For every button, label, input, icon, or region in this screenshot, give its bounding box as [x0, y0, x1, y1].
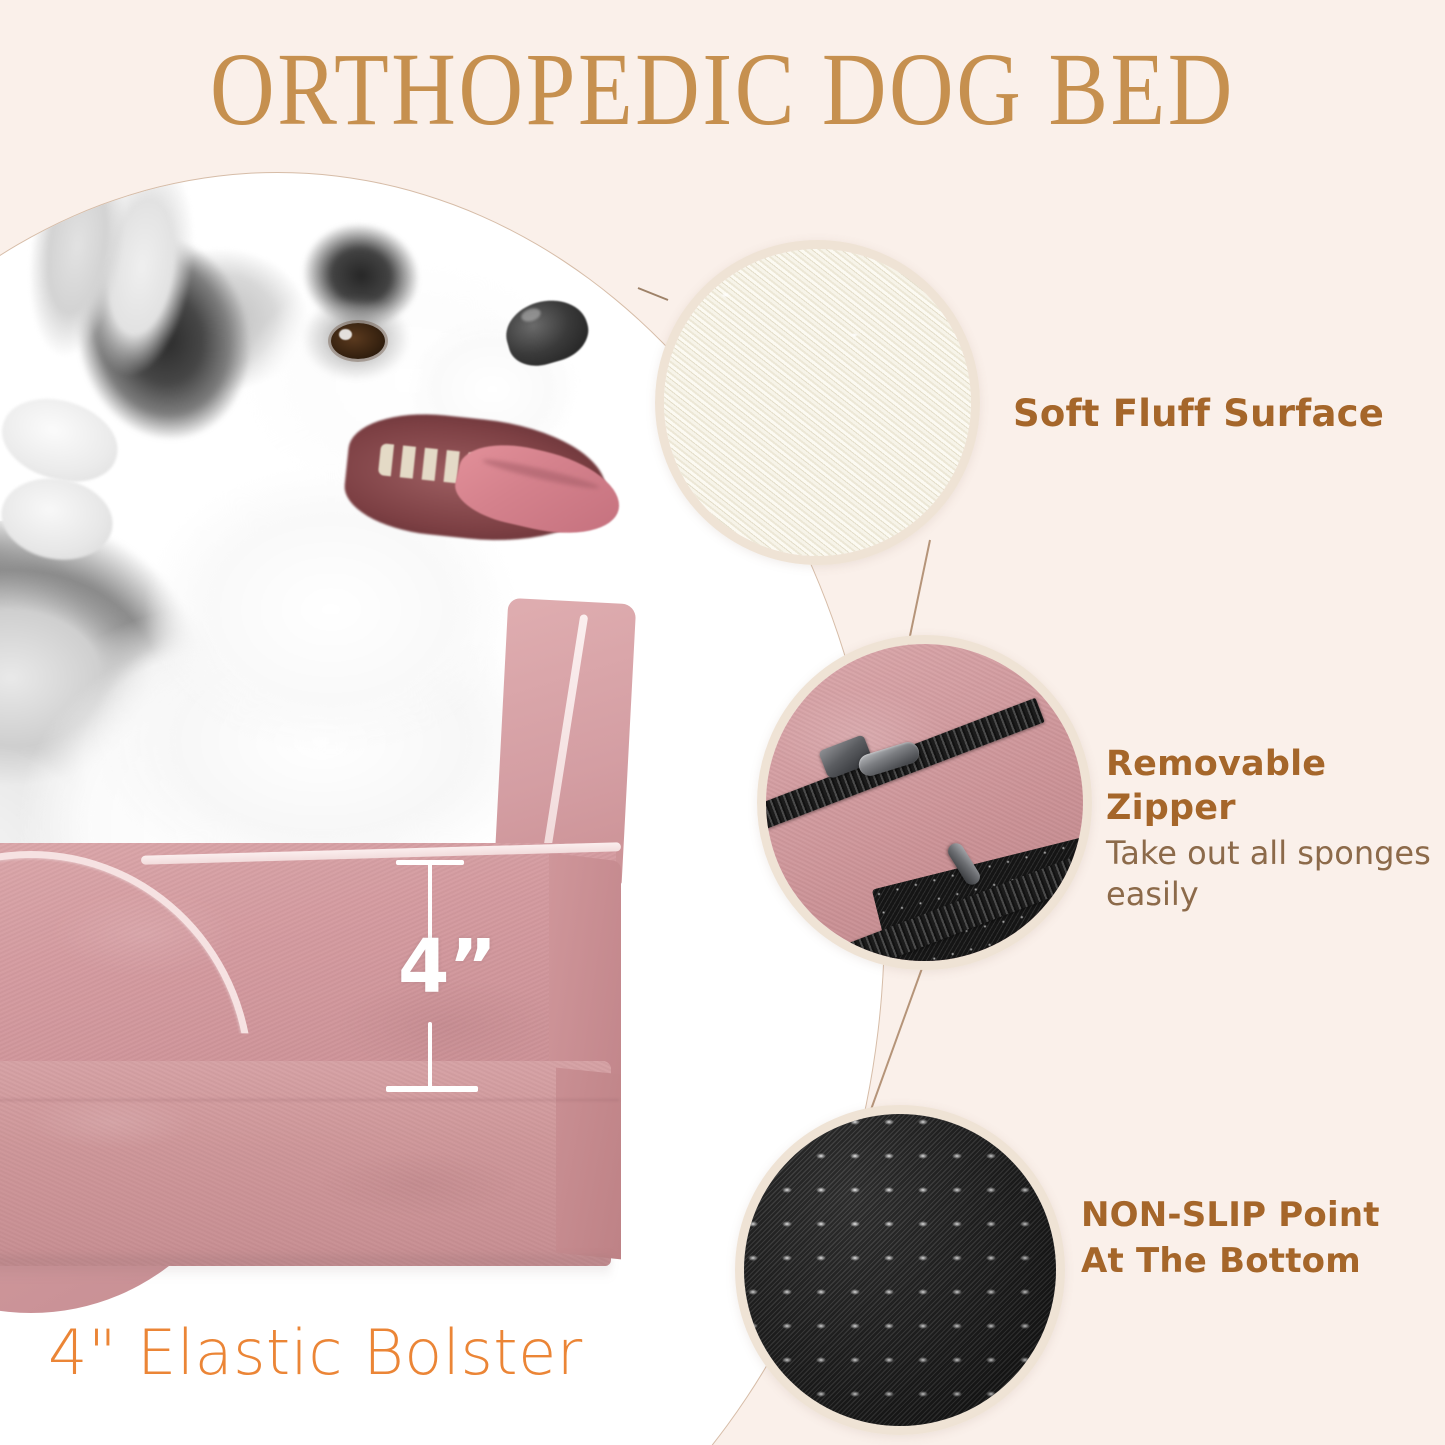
feature-title-soft-fluff: Soft Fluff Surface [1013, 392, 1384, 436]
sherpa-fleece-texture [664, 249, 971, 556]
feature-label-soft-fluff: Soft Fluff Surface [1013, 392, 1384, 436]
infographic-canvas: ORTHOPEDIC DOG BED [0, 0, 1445, 1445]
feature-title-non-slip-line-2: At The Bottom [1081, 1238, 1401, 1284]
feature-title-non-slip-line-1: NON-SLIP Point [1081, 1192, 1401, 1238]
non-slip-shading [744, 1114, 1056, 1426]
feature-title-removable-zipper: Removable Zipper [1106, 742, 1436, 830]
feature-swatch-removable-zipper[interactable] [757, 635, 1092, 970]
feature-swatch-soft-fluff[interactable] [655, 240, 980, 565]
feature-label-non-slip: NON-SLIP Point At The Bottom [1081, 1192, 1401, 1284]
feature-swatch-non-slip-bottom[interactable] [735, 1105, 1065, 1435]
feature-label-removable-zipper: Removable Zipper Take out all sponges ea… [1106, 742, 1436, 915]
feature-subtitle-removable-zipper: Take out all sponges easily [1106, 833, 1436, 915]
bolster-caption: 4" Elastic Bolster [48, 1318, 583, 1388]
